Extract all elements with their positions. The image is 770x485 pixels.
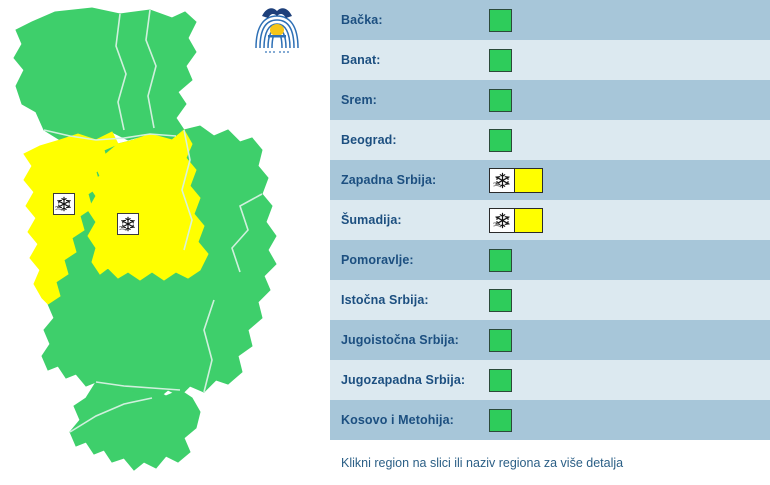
status-warning-yellow — [489, 168, 543, 193]
region-label: Jugoistočna Srbija: — [341, 333, 481, 347]
region-status[interactable] — [489, 249, 512, 272]
status-swatch-green — [489, 9, 512, 32]
status-swatch-green — [489, 369, 512, 392]
region-status[interactable] — [489, 289, 512, 312]
serbia-map-svg[interactable] — [0, 0, 330, 485]
status-swatch-green — [489, 409, 512, 432]
region-status[interactable] — [489, 369, 512, 392]
meteoalarm-page: Bačka: Banat: Srem: Beograd: Zapadna Srb — [0, 0, 770, 485]
region-status[interactable] — [489, 89, 512, 112]
region-row-sumadija[interactable]: Šumadija: — [330, 200, 770, 240]
region-status[interactable] — [489, 49, 512, 72]
serbia-warning-map[interactable] — [0, 0, 330, 485]
region-row-srem[interactable]: Srem: — [330, 80, 770, 120]
region-row-banat[interactable]: Banat: — [330, 40, 770, 80]
region-label: Kosovo i Metohija: — [341, 413, 481, 427]
map-region-kosovo[interactable] — [70, 382, 200, 470]
region-status[interactable] — [489, 9, 512, 32]
map-marker-blowing-snow-icon-zapadna-srbija[interactable] — [53, 193, 75, 215]
map-help-note: Klikni region na slici ili naziv regiona… — [330, 440, 770, 485]
region-label: Srem: — [341, 93, 481, 107]
region-label: Bačka: — [341, 13, 481, 27]
region-status[interactable] — [489, 129, 512, 152]
region-row-zapadna-srbija[interactable]: Zapadna Srbija: — [330, 160, 770, 200]
region-row-beograd[interactable]: Beograd: — [330, 120, 770, 160]
region-label: Beograd: — [341, 133, 481, 147]
region-row-jugoistocna-srbija[interactable]: Jugoistočna Srbija: — [330, 320, 770, 360]
status-swatch-green — [489, 289, 512, 312]
map-marker-blowing-snow-icon-sumadija[interactable] — [117, 213, 139, 235]
region-row-jugozapadna-srbija[interactable]: Jugozapadna Srbija: — [330, 360, 770, 400]
region-label: Istočna Srbija: — [341, 293, 481, 307]
region-status[interactable] — [489, 208, 543, 233]
status-swatch-green — [489, 49, 512, 72]
blowing-snow-icon — [490, 209, 515, 232]
status-swatch-yellow — [515, 169, 542, 192]
region-row-istocna-srbija[interactable]: Istočna Srbija: — [330, 280, 770, 320]
region-label: Pomoravlje: — [341, 253, 481, 267]
region-status[interactable] — [489, 329, 512, 352]
map-region-vojvodina[interactable] — [14, 8, 196, 140]
region-label: Jugozapadna Srbija: — [341, 373, 481, 387]
status-swatch-green — [489, 329, 512, 352]
region-status[interactable] — [489, 409, 512, 432]
region-label: Banat: — [341, 53, 481, 67]
region-status[interactable] — [489, 168, 543, 193]
region-row-pomoravlje[interactable]: Pomoravlje: — [330, 240, 770, 280]
rhmz-logo — [252, 4, 302, 56]
region-warning-list: Bačka: Banat: Srem: Beograd: Zapadna Srb — [330, 0, 770, 485]
region-row-backa[interactable]: Bačka: — [330, 0, 770, 40]
region-label: Šumadija: — [341, 213, 481, 227]
status-swatch-yellow — [515, 209, 542, 232]
blowing-snow-icon — [490, 169, 515, 192]
region-row-kosovo-i-metohija[interactable]: Kosovo i Metohija: — [330, 400, 770, 440]
region-label: Zapadna Srbija: — [341, 173, 481, 187]
status-swatch-green — [489, 129, 512, 152]
status-warning-yellow — [489, 208, 543, 233]
status-swatch-green — [489, 89, 512, 112]
status-swatch-green — [489, 249, 512, 272]
